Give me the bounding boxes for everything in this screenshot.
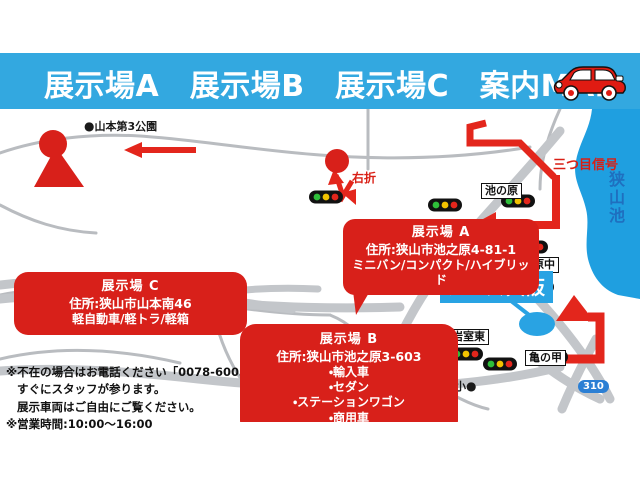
poi-dot-icon: ● (466, 379, 476, 393)
map-page: 展示場A 展示場B 展示場C 案内MAP (0, 0, 640, 480)
callout-a-address: 住所:狭山市池之原4-81-1 (347, 242, 535, 258)
callout-b-address: 住所:狭山市池之原3-603 (244, 349, 454, 365)
page-title: 展示場A 展示場B 展示場C 案内MAP (44, 61, 617, 105)
poi-yamamoto-park: ●山本第3公園 (84, 118, 157, 134)
callout-c-title: 展示場 C (18, 279, 243, 296)
callout-a-categories: ミニバン/コンパクト/ハイブリッド (347, 258, 535, 289)
callout-showroom-c: 展示場 C 住所:狭山市山本南46 軽自動車/軽トラ/軽箱 (14, 272, 247, 335)
route-arrow-west (124, 142, 196, 158)
pond-label-sayamaike: 狭山池 (607, 171, 623, 225)
callout-showroom-a: 展示場 A 住所:狭山市池之原4-81-1 ミニバン/コンパクト/ハイブリッド (343, 219, 539, 295)
callout-b-item-2: ・ステーションワゴン (244, 395, 454, 410)
callout-b-item-1: ・セダン (244, 380, 454, 395)
poi-dot-icon: ● (84, 119, 94, 133)
annotation-turn-right: 右折 (352, 169, 376, 186)
callout-b-title: 展示場 B (244, 332, 454, 349)
callout-c-address: 住所:狭山市山本南46 (18, 296, 243, 312)
callout-a-title: 展示場 A (347, 225, 535, 242)
callout-b-item-0: ・輸入車 (244, 365, 454, 380)
callout-b-item-3: ・商用車 (244, 411, 454, 422)
callout-c-tail (34, 147, 94, 187)
callout-showroom-b: 展示場 B 住所:狭山市池之原3-603 ・輸入車 ・セダン ・ステーションワゴ… (240, 324, 458, 422)
shop-marker (519, 312, 555, 336)
red-car-icon (549, 60, 629, 104)
callout-c-categories: 軽自動車/軽トラ/軽箱 (18, 312, 243, 327)
header-banner: 展示場A 展示場B 展示場C 案内MAP (0, 53, 640, 109)
intersection-ikenohara: 池の原 (481, 183, 522, 199)
showroom-a-marker (325, 149, 349, 173)
intersection-kamenoko: 亀の甲 (525, 350, 566, 366)
route-shield-310: 310 (578, 380, 609, 393)
